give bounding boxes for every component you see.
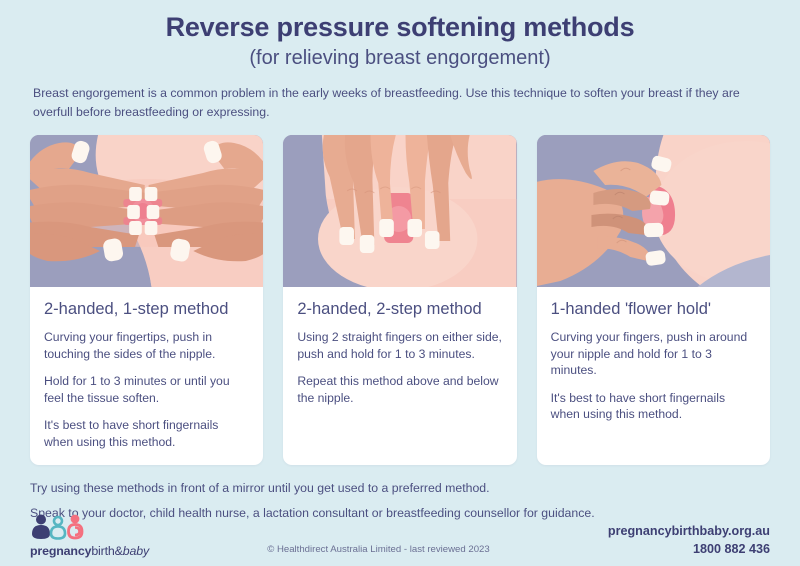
intro-paragraph: Breast engorgement is a common problem i… [33, 84, 767, 122]
infographic-header: Reverse pressure softening methods (for … [0, 0, 800, 122]
page-subtitle: (for relieving breast engorgement) [30, 46, 770, 70]
method-card-body: 1-handed 'flower hold' Curving your fing… [537, 287, 770, 464]
brand-word-italic: baby [123, 544, 149, 558]
method-card-title: 2-handed, 1-step method [44, 300, 249, 320]
footer: pregnancybirth&baby © Healthdirect Austr… [0, 514, 800, 558]
method-card-paragraph: Curving your fingertips, push in touchin… [44, 329, 249, 362]
brand-word-rest: birth& [91, 544, 122, 558]
method-card-paragraph: Hold for 1 to 3 minutes or until you fee… [44, 373, 249, 406]
method-card-title: 1-handed 'flower hold' [551, 300, 756, 320]
one-hand-flower-hold-illustration [537, 135, 770, 287]
method-card-paragraph: Using 2 straight fingers on either side,… [297, 329, 502, 362]
website-url[interactable]: pregnancybirthbaby.org.au [608, 522, 770, 540]
method-card-paragraph: Curving your fingers, push in around you… [551, 329, 756, 379]
method-card: 1-handed 'flower hold' Curving your fing… [537, 135, 770, 464]
two-hands-one-step-illustration [30, 135, 263, 287]
method-card-paragraph: It's best to have short fingernails when… [551, 390, 756, 423]
two-hands-two-step-illustration [283, 135, 516, 287]
brand-lockup: pregnancybirth&baby [30, 514, 149, 558]
method-card-body: 2-handed, 1-step method Curving your fin… [30, 287, 263, 464]
method-card-paragraph: It's best to have short fingernails when… [44, 417, 249, 450]
method-cards-row: 2-handed, 1-step method Curving your fin… [0, 135, 800, 464]
contact-block: pregnancybirthbaby.org.au 1800 882 436 [608, 522, 770, 559]
method-card: 2-handed, 1-step method Curving your fin… [30, 135, 263, 464]
method-card-title: 2-handed, 2-step method [297, 300, 502, 320]
method-card: 2-handed, 2-step method Using 2 straight… [283, 135, 516, 464]
method-card-body: 2-handed, 2-step method Using 2 straight… [283, 287, 516, 464]
copyright-notice: © Healthdirect Australia Limited - last … [267, 544, 490, 558]
page-title: Reverse pressure softening methods [30, 12, 770, 43]
method-card-paragraph: Repeat this method above and below the n… [297, 373, 502, 406]
phone-number[interactable]: 1800 882 436 [608, 540, 770, 558]
three-figures-logo-icon [30, 514, 86, 540]
brand-wordmark: pregnancybirth&baby [30, 544, 149, 558]
brand-word-bold: pregnancy [30, 544, 91, 558]
closing-note: Try using these methods in front of a mi… [30, 479, 770, 497]
